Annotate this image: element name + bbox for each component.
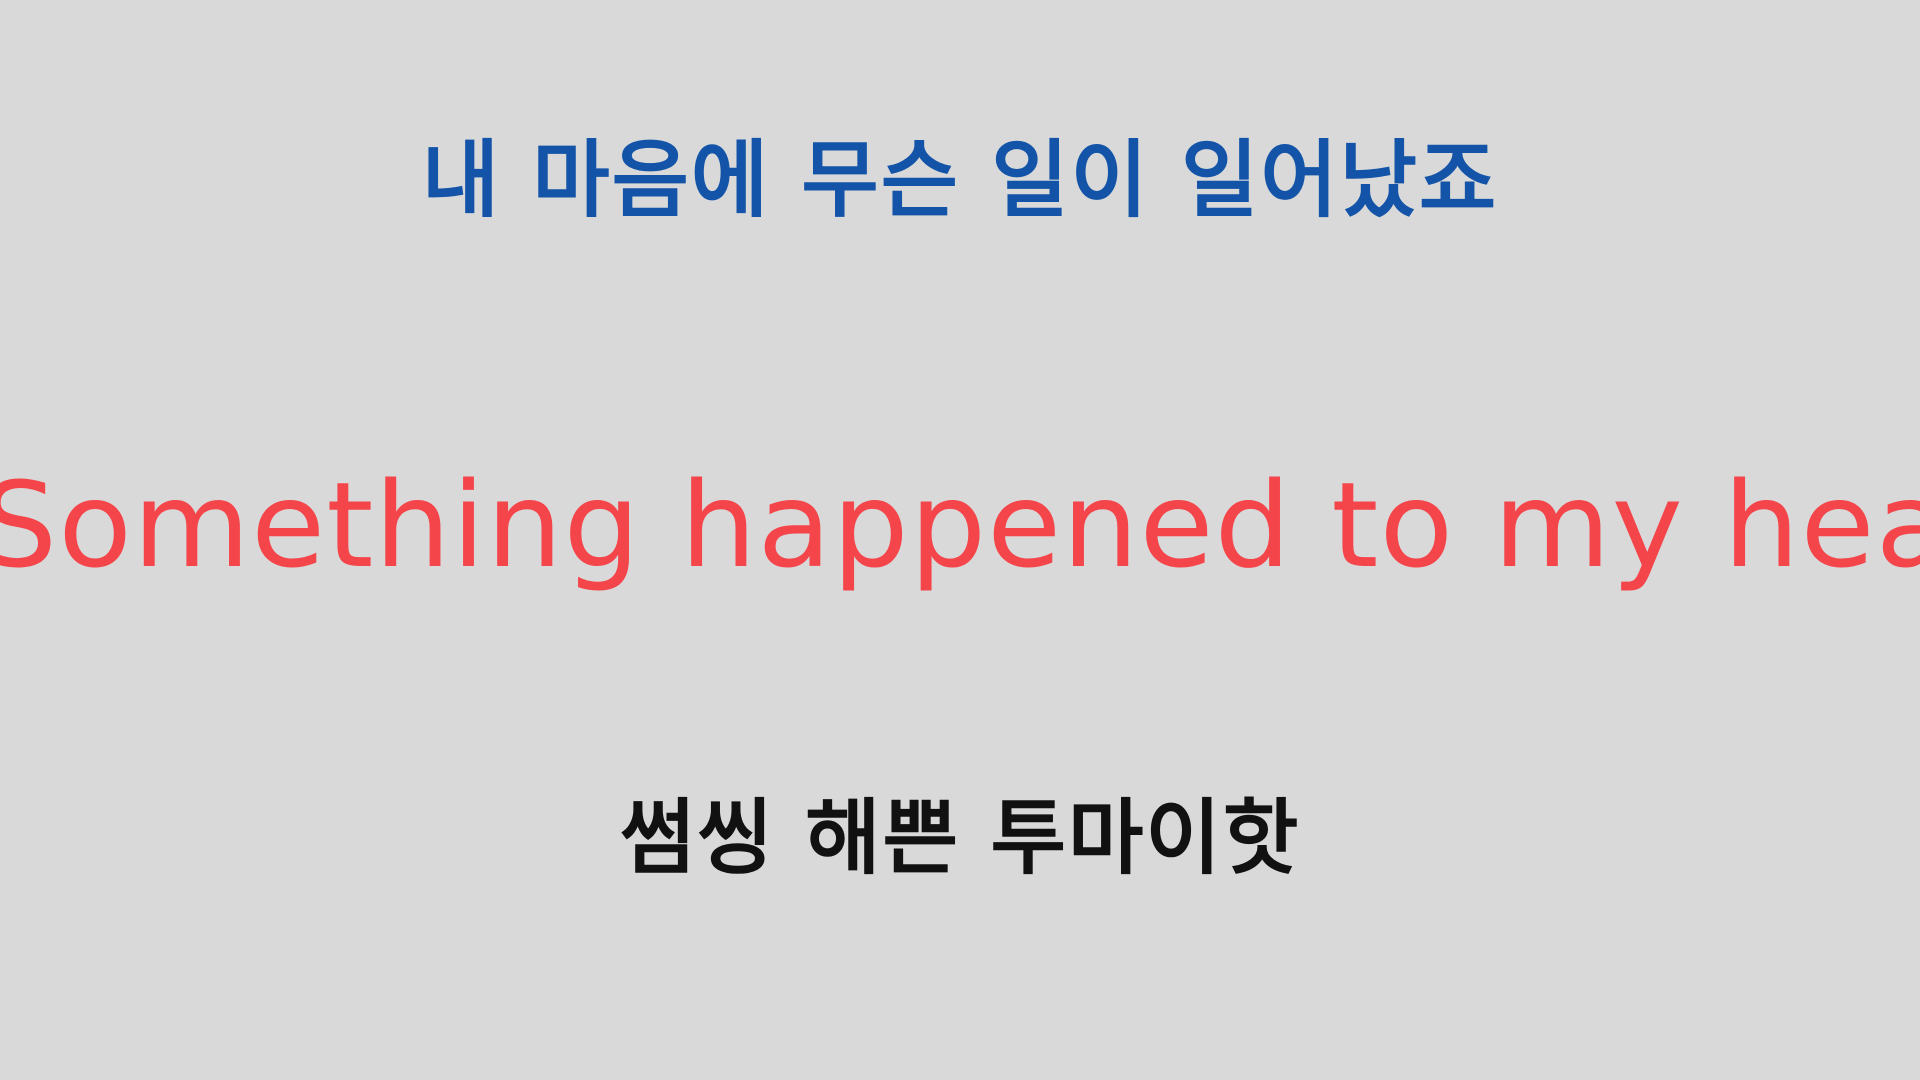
lyric-line-korean-transliteration: 썸씽 해쁜 투마이핫	[0, 798, 1920, 880]
lyric-line-english-translation: Something happened to my heart	[0, 466, 1920, 584]
lyric-slide: 내 마음에 무슨 일이 일어났죠 Something happened to m…	[0, 0, 1920, 1080]
lyric-line-korean-original: 내 마음에 무슨 일이 일어났죠	[0, 138, 1920, 222]
